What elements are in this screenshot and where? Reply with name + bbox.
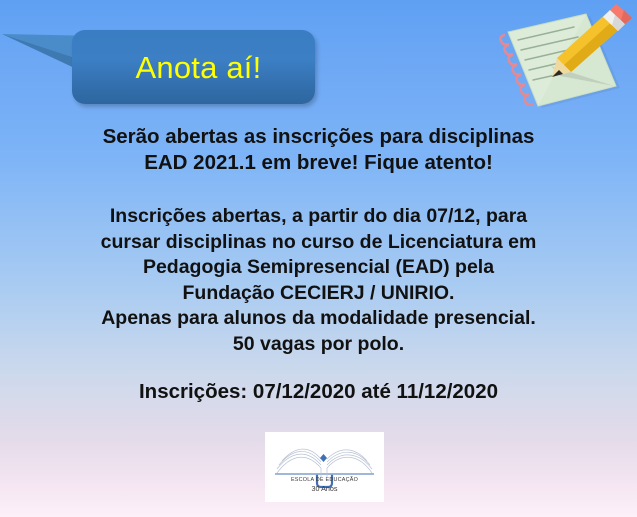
paragraph-2-line-4: Fundação CECIERJ / UNIRIO. (0, 281, 637, 307)
announcement-paragraph-1: Serão abertas as inscrições para discipl… (0, 124, 637, 176)
paragraph-2-line-3: Pedagogia Semipresencial (EAD) pela (0, 255, 637, 281)
notepad-with-pencil-icon (482, 4, 634, 116)
announcement-paragraph-2: Inscrições abertas, a partir do dia 07/1… (0, 204, 637, 357)
speech-bubble-text: Anota aí! (126, 52, 262, 83)
paragraph-2-line-5: Apenas para alunos da modalidade presenc… (0, 306, 637, 332)
paragraph-2-line-2: cursar disciplinas no curso de Licenciat… (0, 230, 637, 256)
registration-dates-line-1: Inscrições: 07/12/2020 até 11/12/2020 (0, 379, 637, 405)
logo-caption-line-1: ESCOLA DE EDUCAÇÃO (265, 477, 384, 483)
poster-canvas: Anota aí! (0, 0, 637, 517)
paragraph-2-line-6: 50 vagas por polo. (0, 332, 637, 358)
institution-logo: ESCOLA DE EDUCAÇÃO 30 Anos (265, 432, 384, 502)
registration-dates: Inscrições: 07/12/2020 até 11/12/2020 (0, 379, 637, 405)
paragraph-1-line-1: Serão abertas as inscrições para discipl… (0, 124, 637, 150)
paragraph-1-line-2: EAD 2021.1 em breve! Fique atento! (0, 150, 637, 176)
speech-bubble-body: Anota aí! (72, 30, 315, 104)
logo-caption-line-2: 30 Anos (265, 484, 384, 493)
speech-bubble: Anota aí! (0, 14, 330, 114)
paragraph-2-line-1: Inscrições abertas, a partir do dia 07/1… (0, 204, 637, 230)
book-diamond-accent-icon (320, 454, 327, 462)
